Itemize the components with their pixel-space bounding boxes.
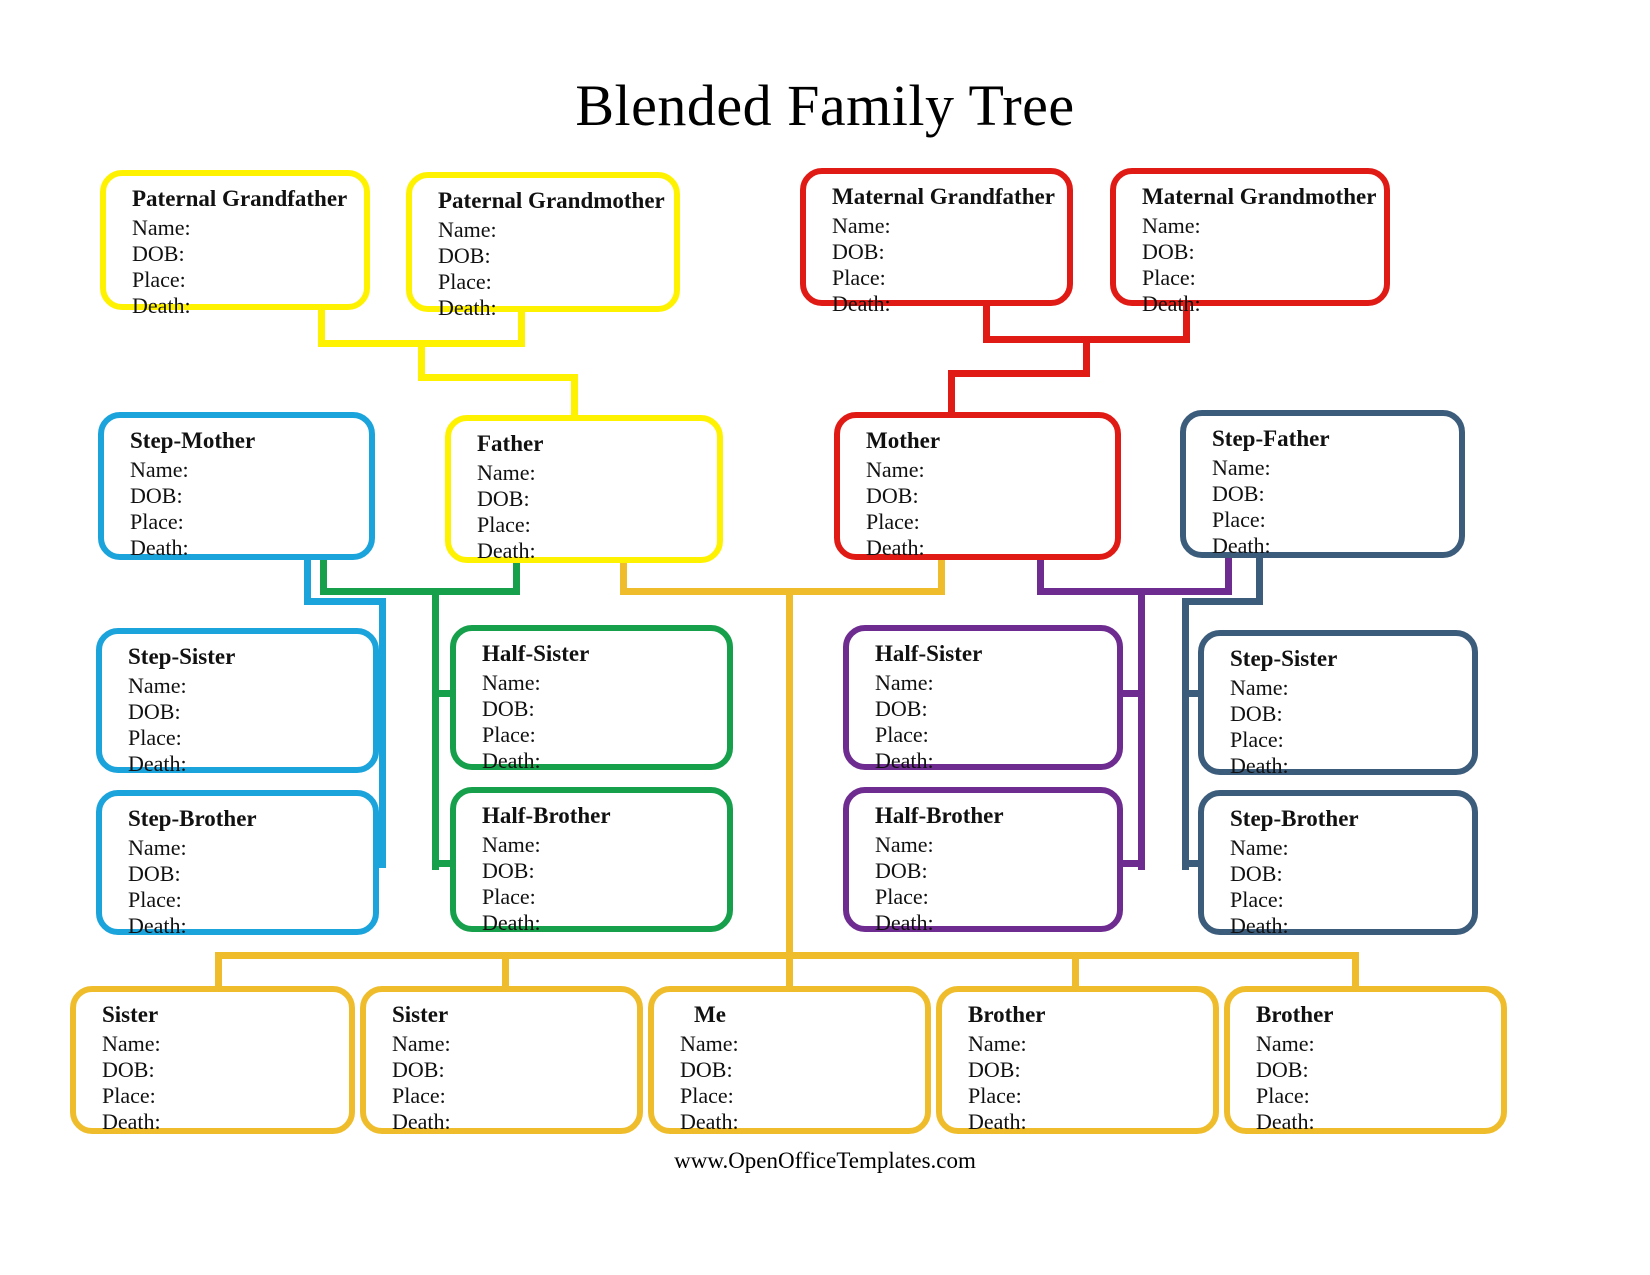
connector-stepmother-down: [304, 556, 311, 604]
connector-half-spine-right: [1138, 588, 1145, 870]
node-title: Step-Mother: [130, 428, 369, 454]
field-place: Place:: [392, 1083, 637, 1109]
connector-half-left-couple-bar: [320, 588, 520, 595]
field-name: Name:: [438, 217, 674, 243]
connector-half-left-from-stepmother: [320, 556, 327, 594]
connector-step-spine-right: [1182, 598, 1189, 870]
field-place: Place:: [866, 509, 1115, 535]
node-title: Father: [477, 431, 717, 457]
node-title: Brother: [968, 1002, 1213, 1028]
connector-parents-gold-bar: [620, 588, 945, 595]
node-half-brother-left[interactable]: Half-Brother Name: DOB: Place: Death:: [450, 787, 733, 932]
node-title: Step-Brother: [128, 806, 373, 832]
field-name: Name:: [1212, 455, 1459, 481]
connector-half-right-from-mother: [1037, 556, 1044, 594]
connector-maternal-to-mother: [948, 370, 1090, 377]
field-death: Death:: [1256, 1109, 1501, 1135]
field-death: Death:: [482, 910, 727, 936]
field-death: Death:: [482, 748, 727, 774]
field-death: Death:: [832, 291, 1067, 317]
field-name: Name:: [1142, 213, 1384, 239]
field-dob: DOB:: [130, 483, 369, 509]
field-dob: DOB:: [482, 858, 727, 884]
field-name: Name:: [875, 670, 1117, 696]
node-title: Mother: [866, 428, 1115, 454]
field-dob: DOB:: [866, 483, 1115, 509]
field-dob: DOB:: [1230, 701, 1472, 727]
field-dob: DOB:: [832, 239, 1067, 265]
connector-gold-sibling-bar: [215, 952, 1355, 959]
node-step-sister-left[interactable]: Step-Sister Name: DOB: Place: Death:: [96, 628, 379, 773]
field-place: Place:: [482, 884, 727, 910]
node-sister-1[interactable]: Sister Name: DOB: Place: Death:: [70, 986, 355, 1134]
field-dob: DOB:: [1142, 239, 1384, 265]
field-death: Death:: [875, 910, 1117, 936]
field-death: Death:: [866, 535, 1115, 561]
field-dob: DOB:: [875, 858, 1117, 884]
field-dob: DOB:: [1256, 1057, 1501, 1083]
node-half-brother-right[interactable]: Half-Brother Name: DOB: Place: Death:: [843, 787, 1123, 932]
field-name: Name:: [128, 835, 373, 861]
field-name: Name:: [128, 673, 373, 699]
field-dob: DOB:: [1230, 861, 1472, 887]
field-death: Death:: [1142, 291, 1384, 317]
node-title: Step-Sister: [1230, 646, 1472, 672]
field-name: Name:: [130, 457, 369, 483]
node-title: Half-Brother: [482, 803, 727, 829]
field-place: Place:: [130, 509, 369, 535]
node-father[interactable]: Father Name: DOB: Place: Death:: [445, 415, 723, 563]
field-place: Place:: [128, 725, 373, 751]
field-name: Name:: [102, 1031, 349, 1057]
field-place: Place:: [128, 887, 373, 913]
field-name: Name:: [680, 1031, 925, 1057]
field-dob: DOB:: [128, 699, 373, 725]
node-title: Brother: [1256, 1002, 1501, 1028]
field-death: Death:: [438, 295, 674, 321]
node-title: Paternal Grandmother: [438, 188, 674, 214]
field-name: Name:: [866, 457, 1115, 483]
node-sister-2[interactable]: Sister Name: DOB: Place: Death:: [360, 986, 643, 1134]
field-death: Death:: [132, 293, 364, 319]
field-name: Name:: [477, 460, 717, 486]
field-place: Place:: [1230, 727, 1472, 753]
field-place: Place:: [438, 269, 674, 295]
node-step-brother-right[interactable]: Step-Brother Name: DOB: Place: Death:: [1198, 790, 1478, 935]
connector-step-spine-left: [379, 598, 386, 868]
field-name: Name:: [1230, 675, 1472, 701]
field-death: Death:: [875, 748, 1117, 774]
node-title: Step-Sister: [128, 644, 373, 670]
field-name: Name:: [482, 670, 727, 696]
footer-url: www.OpenOfficeTemplates.com: [0, 1148, 1650, 1174]
node-maternal-grandmother[interactable]: Maternal Grandmother Name: DOB: Place: D…: [1110, 168, 1390, 306]
field-dob: DOB:: [968, 1057, 1213, 1083]
field-place: Place:: [1230, 887, 1472, 913]
node-half-sister-right[interactable]: Half-Sister Name: DOB: Place: Death:: [843, 625, 1123, 770]
field-name: Name:: [482, 832, 727, 858]
connector-half-right-couple-bar: [1037, 588, 1232, 595]
field-place: Place:: [477, 512, 717, 538]
connector-stepfather-bar: [1182, 598, 1263, 605]
field-death: Death:: [130, 535, 369, 561]
field-place: Place:: [1256, 1083, 1501, 1109]
field-death: Death:: [128, 913, 373, 939]
node-title: Sister: [392, 1002, 637, 1028]
field-name: Name:: [875, 832, 1117, 858]
field-death: Death:: [477, 538, 717, 564]
field-dob: DOB:: [102, 1057, 349, 1083]
field-dob: DOB:: [392, 1057, 637, 1083]
node-step-brother-left[interactable]: Step-Brother Name: DOB: Place: Death:: [96, 790, 379, 935]
page-title: Blended Family Tree: [0, 72, 1650, 139]
node-title: Step-Father: [1212, 426, 1459, 452]
field-dob: DOB:: [1212, 481, 1459, 507]
node-me[interactable]: Me Name: DOB: Place: Death:: [648, 986, 931, 1134]
field-death: Death:: [1212, 533, 1459, 559]
field-name: Name:: [1256, 1031, 1501, 1057]
field-dob: DOB:: [482, 696, 727, 722]
field-name: Name:: [832, 213, 1067, 239]
node-step-father[interactable]: Step-Father Name: DOB: Place: Death:: [1180, 410, 1465, 558]
field-dob: DOB:: [477, 486, 717, 512]
field-death: Death:: [392, 1109, 637, 1135]
field-death: Death:: [968, 1109, 1213, 1135]
field-place: Place:: [875, 884, 1117, 910]
field-place: Place:: [832, 265, 1067, 291]
node-title: Step-Brother: [1230, 806, 1472, 832]
field-name: Name:: [968, 1031, 1213, 1057]
node-step-mother[interactable]: Step-Mother Name: DOB: Place: Death:: [98, 412, 375, 560]
node-brother-1[interactable]: Brother Name: DOB: Place: Death:: [936, 986, 1219, 1134]
connector-gold-spine: [786, 588, 793, 958]
node-mother[interactable]: Mother Name: DOB: Place: Death:: [834, 412, 1121, 560]
field-death: Death:: [1230, 753, 1472, 779]
node-step-sister-right[interactable]: Step-Sister Name: DOB: Place: Death:: [1198, 630, 1478, 775]
connector-stepfather-down: [1256, 556, 1263, 604]
field-death: Death:: [680, 1109, 925, 1135]
node-brother-2[interactable]: Brother Name: DOB: Place: Death:: [1224, 986, 1507, 1134]
node-title: Maternal Grandmother: [1142, 184, 1384, 210]
field-death: Death:: [102, 1109, 349, 1135]
field-dob: DOB:: [438, 243, 674, 269]
node-title: Paternal Grandfather: [132, 186, 364, 212]
connector-stepmother-bar: [304, 598, 386, 605]
field-place: Place:: [102, 1083, 349, 1109]
node-title: Me: [680, 1002, 925, 1028]
field-dob: DOB:: [132, 241, 364, 267]
field-dob: DOB:: [875, 696, 1117, 722]
field-place: Place:: [482, 722, 727, 748]
node-title: Half-Sister: [875, 641, 1117, 667]
field-place: Place:: [1212, 507, 1459, 533]
family-tree-page: Blended Family Tree P: [0, 0, 1650, 1275]
field-dob: DOB:: [128, 861, 373, 887]
connector-half-spine-left: [432, 588, 439, 870]
node-title: Half-Brother: [875, 803, 1117, 829]
field-place: Place:: [132, 267, 364, 293]
field-name: Name:: [1230, 835, 1472, 861]
connector-gold-from-mother: [938, 556, 945, 594]
field-place: Place:: [1142, 265, 1384, 291]
node-half-sister-left[interactable]: Half-Sister Name: DOB: Place: Death:: [450, 625, 733, 770]
field-name: Name:: [132, 215, 364, 241]
node-paternal-grandmother[interactable]: Paternal Grandmother Name: DOB: Place: D…: [406, 172, 680, 312]
field-place: Place:: [968, 1083, 1213, 1109]
field-place: Place:: [680, 1083, 925, 1109]
node-title: Half-Sister: [482, 641, 727, 667]
field-place: Place:: [875, 722, 1117, 748]
connector-paternal-to-father: [418, 374, 578, 381]
node-maternal-grandfather[interactable]: Maternal Grandfather Name: DOB: Place: D…: [800, 168, 1073, 306]
node-paternal-grandfather[interactable]: Paternal Grandfather Name: DOB: Place: D…: [100, 170, 370, 310]
node-title: Sister: [102, 1002, 349, 1028]
connector-half-right-from-stepfather: [1225, 556, 1232, 594]
node-title: Maternal Grandfather: [832, 184, 1067, 210]
field-name: Name:: [392, 1031, 637, 1057]
field-death: Death:: [1230, 913, 1472, 939]
field-death: Death:: [128, 751, 373, 777]
field-dob: DOB:: [680, 1057, 925, 1083]
